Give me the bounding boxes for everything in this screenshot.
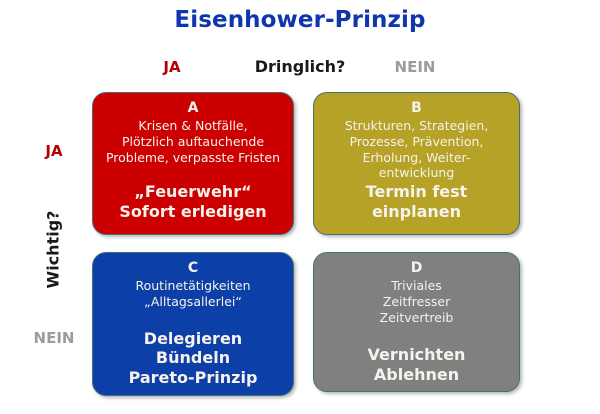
quadrant-d-letter: D [314,260,519,277]
quadrant-c[interactable]: C Routinetätigkeiten„Alltagsallerlei“ De… [92,252,294,396]
urgent-yes-label: JA [152,58,192,76]
important-no-label: NEIN [24,329,84,347]
page-title: Eisenhower-Prinzip [0,7,600,33]
quadrant-a[interactable]: A Krisen & Notfälle,Plötzlich auftauchen… [92,92,294,235]
quadrant-b-action: Termin festeinplanen [314,182,519,221]
eisenhower-matrix-canvas: Eisenhower-Prinzip JA Dringlich? NEIN JA… [0,0,600,414]
quadrant-d-action: VernichtenAblehnen [314,345,519,384]
important-yes-label: JA [32,142,76,160]
quadrant-c-description: Routinetätigkeiten„Alltagsallerlei“ [93,278,293,310]
urgent-no-label: NEIN [390,58,440,76]
quadrant-d-description: TrivialesZeitfresserZeitvertreib [314,278,519,326]
urgent-axis-question: Dringlich? [235,57,365,76]
quadrant-d[interactable]: D TrivialesZeitfresserZeitvertreib Verni… [313,252,520,392]
quadrant-b-description: Strukturen, Strategien,Prozesse, Prävent… [314,118,519,182]
quadrant-c-letter: C [93,260,293,277]
quadrant-a-description: Krisen & Notfälle,Plötzlich auftauchende… [93,118,293,166]
quadrant-a-action: „Feuerwehr“Sofort erledigen [93,182,293,221]
quadrant-b-letter: B [314,100,519,117]
quadrant-b[interactable]: B Strukturen, Strategien,Prozesse, Präve… [313,92,520,235]
quadrant-a-letter: A [93,100,293,117]
important-axis-question: Wichtig? [44,190,63,310]
quadrant-c-action: DelegierenBündelnPareto-Prinzip [93,329,293,388]
